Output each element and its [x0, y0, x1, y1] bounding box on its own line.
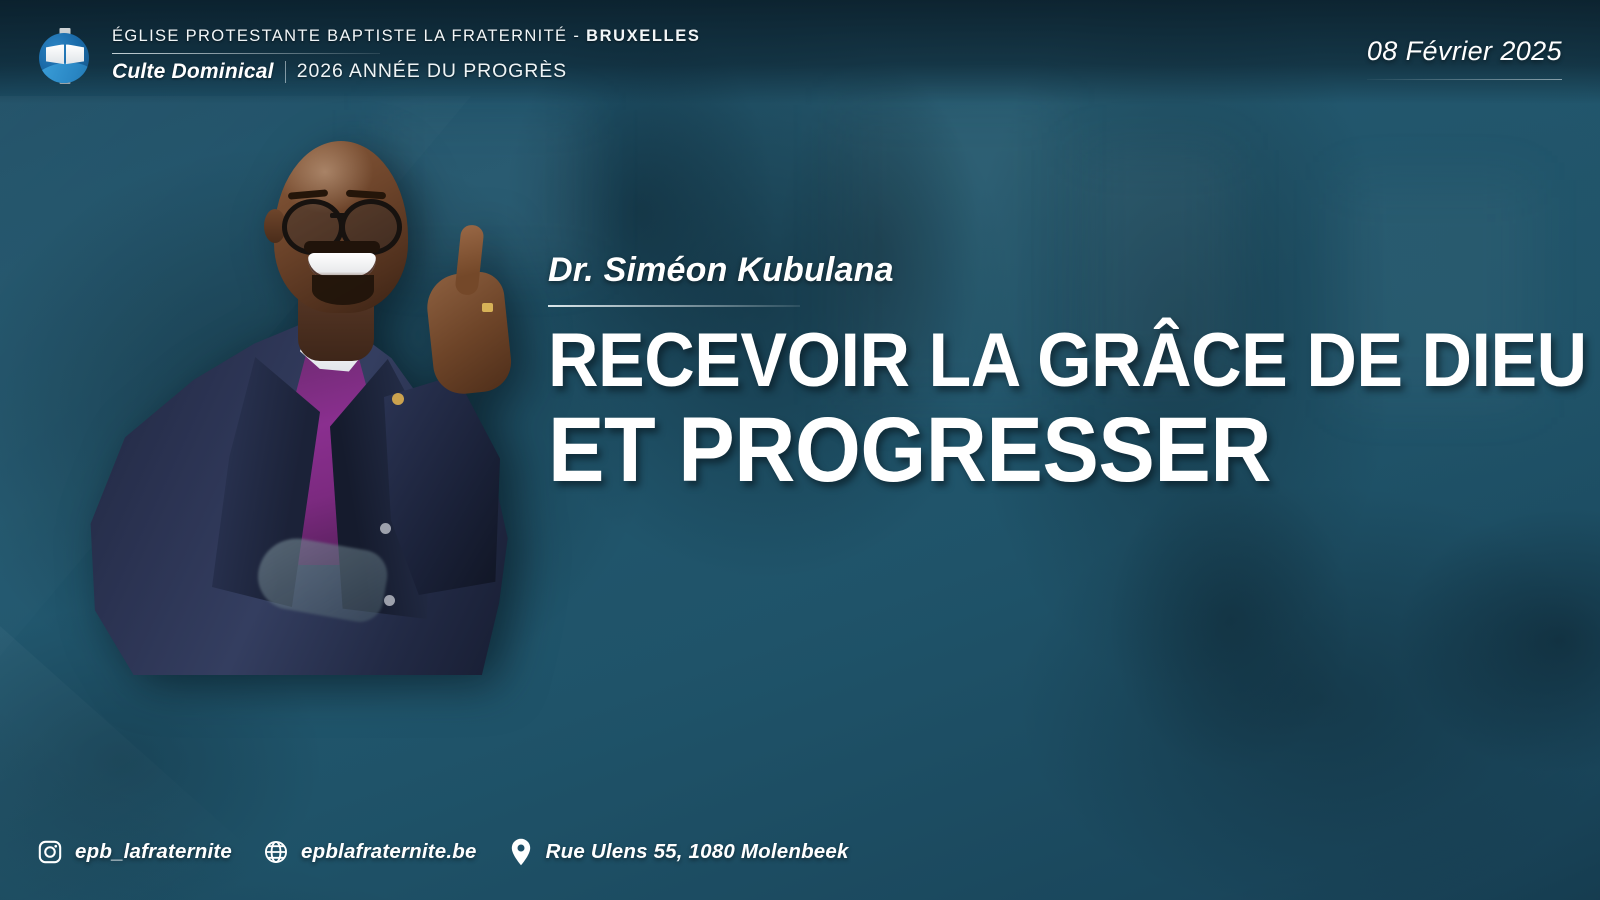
church-city: BRUXELLES	[586, 27, 700, 45]
poster-footer-contacts: epb_lafraternite epblafraternite.be	[36, 838, 849, 866]
service-type-label: Culte Dominical	[112, 60, 274, 84]
contact-address[interactable]: Rue Ulens 55, 1080 Molenbeek	[507, 838, 849, 866]
year-theme-label: 2026 ANNÉE DU PROGRÈS	[297, 60, 567, 83]
speaker-portrait	[62, 125, 532, 655]
header-divider-rule	[112, 53, 380, 54]
poster-header: ÉGLISE PROTESTANTE BAPTISTE LA FRATERNIT…	[34, 24, 700, 86]
church-name-line: ÉGLISE PROTESTANTE BAPTISTE LA FRATERNIT…	[112, 27, 700, 46]
location-pin-icon	[507, 838, 535, 866]
sermon-title: RECEVOIR LA GRÂCE DE DIEU ET PROGRESSER	[548, 325, 1431, 494]
open-book-icon	[46, 44, 84, 64]
book-page-left	[46, 44, 64, 64]
portrait-lapel-pin	[392, 393, 404, 405]
street-address: Rue Ulens 55, 1080 Molenbeek	[546, 840, 849, 864]
service-date: 08 Février 2025	[1367, 36, 1562, 67]
portrait-goatee	[312, 275, 374, 305]
service-date-block: 08 Février 2025	[1367, 36, 1562, 80]
subline-divider	[285, 61, 286, 83]
contact-instagram[interactable]: epb_lafraternite	[36, 838, 232, 866]
service-announcement-poster: ÉGLISE PROTESTANTE BAPTISTE LA FRATERNIT…	[0, 0, 1600, 900]
website-url: epblafraternite.be	[301, 840, 477, 864]
sermon-text-block: Dr. Siméon Kubulana RECEVOIR LA GRÂCE DE…	[548, 252, 1508, 495]
date-underline-rule	[1367, 79, 1562, 80]
portrait-jacket-button	[384, 595, 395, 606]
globe-icon	[262, 838, 290, 866]
sermon-title-line-2: ET PROGRESSER	[548, 406, 1431, 494]
header-text-block: ÉGLISE PROTESTANTE BAPTISTE LA FRATERNIT…	[112, 27, 700, 84]
instagram-icon	[36, 838, 64, 866]
speaker-name: Dr. Siméon Kubulana	[548, 252, 1508, 289]
portrait-jacket-button	[380, 523, 391, 534]
header-subline: Culte Dominical 2026 ANNÉE DU PROGRÈS	[112, 60, 700, 84]
portrait-moustache	[304, 241, 380, 253]
portrait-glasses-bridge	[330, 213, 346, 218]
church-cross-book-logo-icon	[34, 24, 96, 86]
book-page-right	[66, 44, 84, 64]
contact-website[interactable]: epblafraternite.be	[262, 838, 477, 866]
church-name: ÉGLISE PROTESTANTE BAPTISTE LA FRATERNIT…	[112, 27, 586, 45]
portrait-ring	[482, 303, 493, 312]
sermon-title-line-1: RECEVOIR LA GRÂCE DE DIEU	[548, 325, 1431, 398]
speaker-underline-rule	[548, 305, 800, 307]
instagram-handle: epb_lafraternite	[75, 840, 232, 864]
